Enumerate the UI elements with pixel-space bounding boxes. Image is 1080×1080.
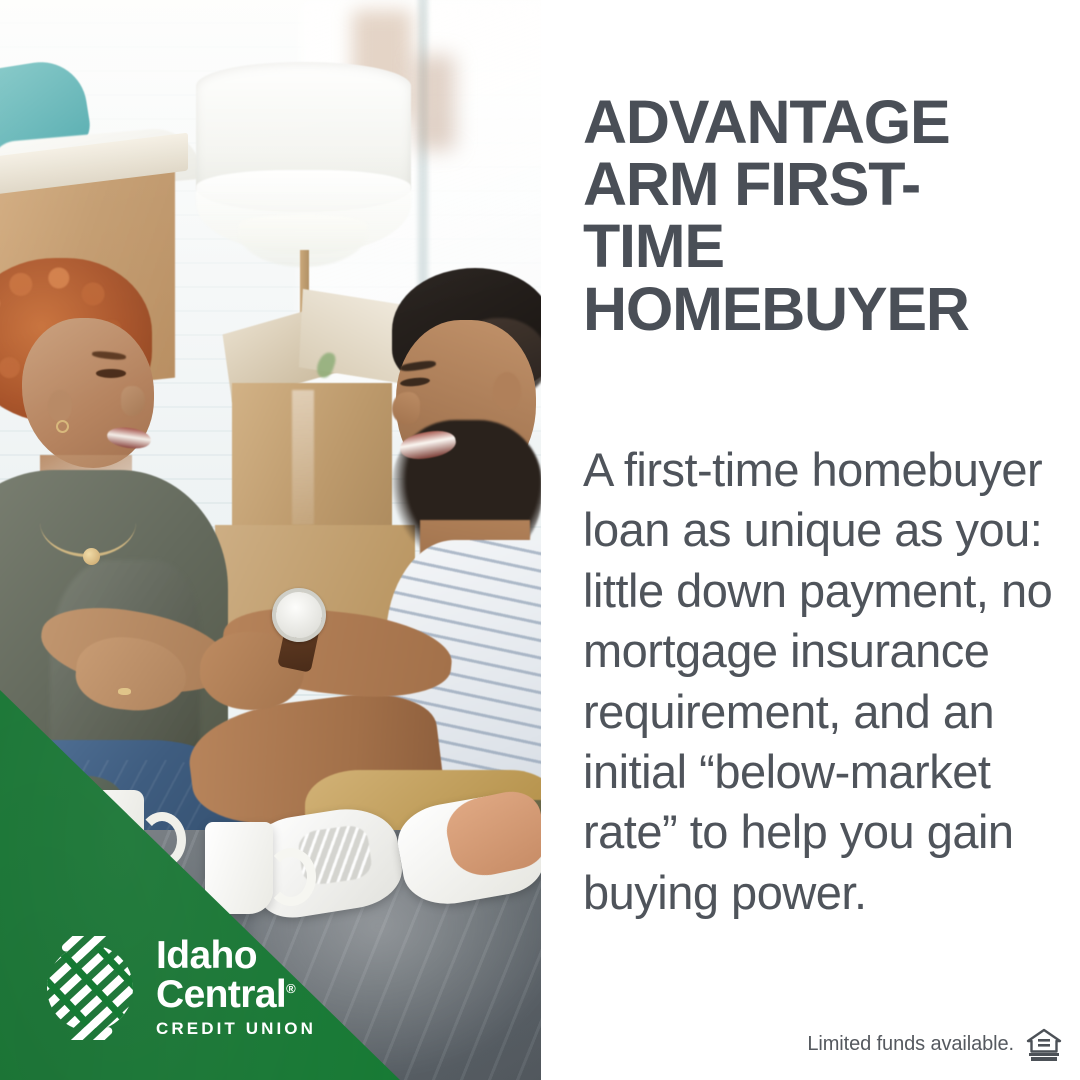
iccu-logo-wordmark: Idaho Central® CREDIT UNION (156, 937, 316, 1039)
logo-line-credit-union: CREDIT UNION (156, 1019, 316, 1039)
iccu-diagonal-stripes-mark (38, 936, 142, 1040)
disclaimer-text: Limited funds available. (807, 1033, 1014, 1056)
man-nose (392, 392, 420, 424)
page-title: ADVANTAGE ARM FIRST-TIME HOMEBUYER (583, 91, 1053, 340)
box-packing-tape (292, 390, 314, 525)
woman-necklace-pendant (83, 548, 100, 565)
woman-eye (96, 369, 126, 378)
advertisement-creative: Idaho Central® CREDIT UNION ADVANTAGE AR… (0, 0, 1080, 1080)
logo-central-text: Central (156, 973, 286, 1016)
logo-line-idaho: Idaho (156, 937, 316, 975)
window-warm-reflection-2 (415, 55, 455, 150)
body-description: A first-time homebuyer loan as unique as… (583, 440, 1055, 923)
couple-moving-in-photo: Idaho Central® CREDIT UNION (0, 0, 541, 1080)
man-ear (493, 372, 521, 410)
iccu-logo[interactable]: Idaho Central® CREDIT UNION (38, 936, 316, 1040)
equal-housing-lender-icon (1026, 1026, 1062, 1062)
logo-line-central: Central® (156, 975, 316, 1014)
woman-earring (56, 420, 69, 433)
registered-mark: ® (286, 981, 295, 996)
text-panel: ADVANTAGE ARM FIRST-TIME HOMEBUYER A fir… (541, 0, 1080, 1080)
woman-ear (48, 390, 72, 422)
footer-row: Limited funds available. (807, 1026, 1062, 1062)
mug-white-handle (266, 848, 316, 906)
woman-necklace-chain (40, 488, 136, 557)
woman-ring (118, 688, 131, 695)
